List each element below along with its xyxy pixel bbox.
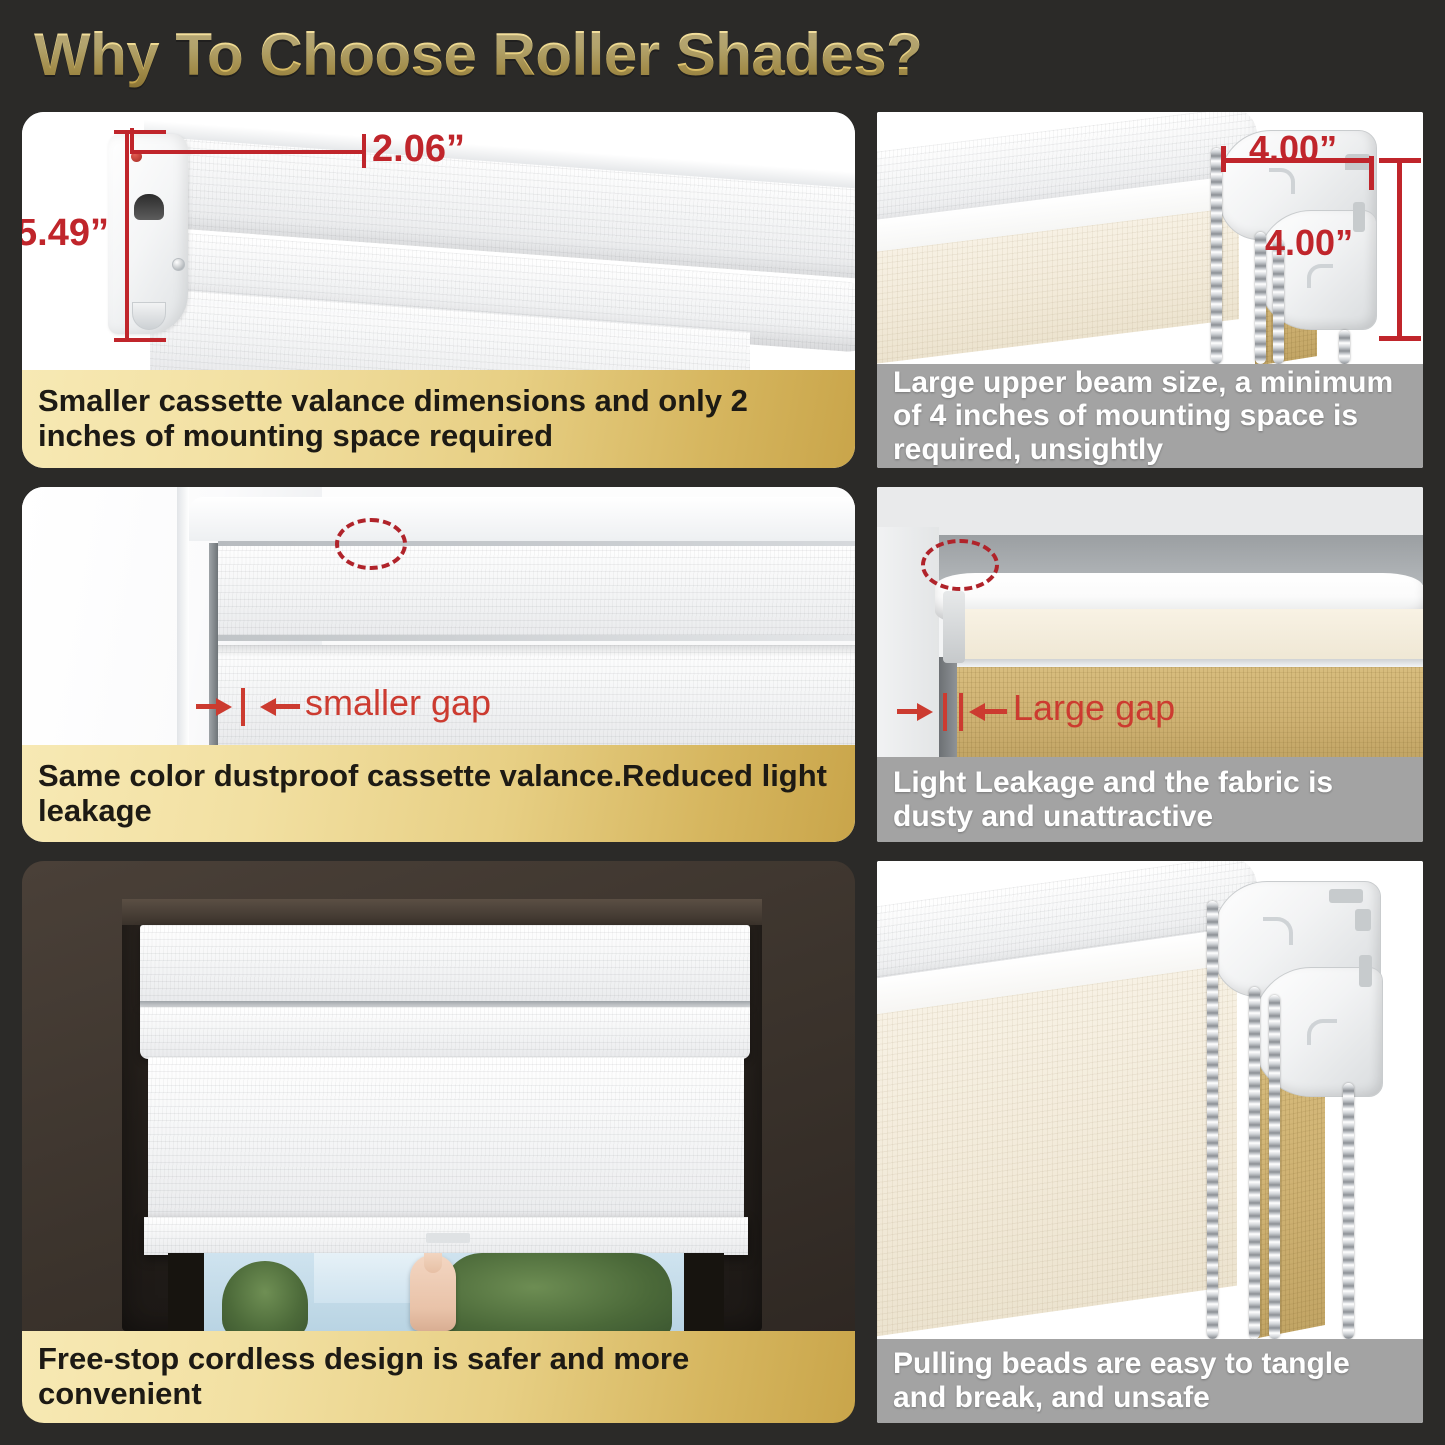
beam-height-tick-top: [1379, 158, 1421, 163]
window-mullion-left: [168, 1253, 204, 1331]
recess-top-reveal: [122, 899, 762, 925]
gap-callout-label: Large gap: [1013, 687, 1175, 729]
end-cap-clutch-hole: [134, 194, 164, 220]
beam-height-tick-bottom: [1379, 336, 1421, 341]
panel-3-caption-text: Same color dustproof cassette valance.Re…: [22, 759, 855, 828]
panel-1-caption: Smaller cassette valance dimensions and …: [22, 370, 855, 468]
panel-2-caption-text: Large upper beam size, a minimum of 4 in…: [877, 366, 1423, 467]
bottom-rail-tab: [426, 1233, 470, 1243]
panel-1: 2.06” 5.49” Smaller cassette valance dim…: [22, 112, 855, 468]
panel-4-caption-text: Light Leakage and the fabric is dusty an…: [877, 766, 1423, 833]
bead-chain-1: [1207, 901, 1218, 1339]
end-cap-screw-lower: [172, 258, 185, 271]
gap-measure-bar-b: [959, 693, 963, 731]
gap-arrow-right-head: [969, 703, 985, 721]
panel-5-photo: [22, 861, 855, 1331]
bracket-slot-mid: [1353, 202, 1365, 232]
gap-arrow-left-head: [216, 698, 232, 716]
valance-head-bottomline: [218, 635, 855, 641]
height-dim-tick-bottom: [114, 338, 166, 342]
bracket-icon-lower: [1307, 264, 1333, 288]
beam-height-label: 4.00”: [1265, 222, 1353, 264]
bracket-icon-upper: [1263, 917, 1293, 945]
panel-2-photo: 4.00” 4.00”: [877, 112, 1423, 364]
beam-height-dim-line: [1397, 158, 1402, 340]
headrail-lower-lip: [140, 1007, 750, 1059]
fabric-band-underline: [947, 659, 1423, 667]
bead-chain-4: [1343, 1083, 1354, 1339]
panel-1-photo: 2.06” 5.49”: [22, 112, 855, 370]
exposed-bracket: [943, 591, 965, 663]
beam-width-tick-left: [1221, 146, 1226, 172]
panel-5-caption-text: Free-stop cordless design is safer and m…: [22, 1342, 855, 1411]
fabric-cream-band: [947, 609, 1423, 661]
gap-measure-bar: [241, 688, 245, 726]
gap-arrow-left-stem: [196, 704, 218, 709]
bracket-icon-upper: [1269, 168, 1295, 194]
bead-chain-4: [1339, 330, 1350, 364]
highlight-circle-icon: [921, 539, 999, 591]
finger: [424, 1253, 442, 1273]
gap-arrow-left-stem: [897, 709, 919, 714]
gap-arrow-right-head: [260, 698, 276, 716]
gap-arrow-right-stem: [985, 709, 1007, 714]
valance-head: [218, 543, 855, 639]
tree-left: [222, 1261, 308, 1331]
window-casing-edge: [177, 487, 189, 745]
bracket-slot-upper-right: [1355, 909, 1371, 931]
window-mullion-right: [684, 1253, 724, 1331]
page-title: Why To Choose Roller Shades?: [0, 0, 1445, 108]
panel-6-photo: [877, 861, 1423, 1339]
gap-arrow-right-stem: [276, 704, 300, 709]
highlight-circle-icon: [335, 518, 407, 570]
bead-chain-3: [1269, 995, 1280, 1339]
window-glass: [202, 1253, 686, 1331]
bracket-slot-top: [1329, 889, 1363, 903]
panel-4-caption: Light Leakage and the fabric is dusty an…: [877, 757, 1423, 842]
panel-3: smaller gap Same color dustproof cassett…: [22, 487, 855, 842]
height-dim-tick-top: [114, 130, 166, 134]
panel-4-photo: Large gap: [877, 487, 1423, 757]
gap-callout-label: smaller gap: [305, 682, 491, 724]
beam-width-tick-right: [1369, 156, 1374, 190]
valance-head-topline: [218, 541, 855, 546]
beam-width-label: 4.00”: [1249, 128, 1337, 170]
gap-arrow-left-head: [917, 703, 933, 721]
panel-3-caption: Same color dustproof cassette valance.Re…: [22, 745, 855, 842]
panel-2: 4.00” 4.00” Large upper beam size, a min…: [877, 112, 1423, 468]
tree-right: [442, 1253, 672, 1331]
panel-1-caption-text: Smaller cassette valance dimensions and …: [22, 384, 855, 453]
bead-chain-2: [1249, 987, 1260, 1339]
panel-6-caption-text: Pulling beads are easy to tangle and bre…: [877, 1347, 1423, 1414]
page-title-text: Why To Choose Roller Shades?: [0, 20, 922, 89]
panel-5: Free-stop cordless design is safer and m…: [22, 861, 855, 1423]
width-dim-label: 2.06”: [372, 128, 465, 171]
panel-2-caption: Large upper beam size, a minimum of 4 in…: [877, 364, 1423, 468]
panel-3-photo: smaller gap: [22, 487, 855, 745]
gap-measure-bar-a: [943, 693, 947, 731]
shade-headrail: [140, 925, 750, 1005]
width-dim-line: [130, 150, 365, 154]
window-casing-inner-bevel: [189, 497, 855, 541]
bracket-slot-mid: [1359, 955, 1372, 987]
bead-chain-1: [1211, 148, 1222, 364]
panel-4: Large gap Light Leakage and the fabric i…: [877, 487, 1423, 842]
width-dim-tick-right: [362, 134, 366, 168]
wall-upper-band: [877, 487, 1423, 537]
panel-5-caption: Free-stop cordless design is safer and m…: [22, 1331, 855, 1423]
bracket-icon-lower: [1307, 1019, 1337, 1045]
panel-6: Pulling beads are easy to tangle and bre…: [877, 861, 1423, 1423]
panel-6-caption: Pulling beads are easy to tangle and bre…: [877, 1339, 1423, 1423]
shade-fabric: [148, 1057, 744, 1229]
height-dim-line: [125, 130, 129, 342]
shade-roll-shadow: [218, 645, 855, 657]
shade-drop-fabric: [877, 964, 1237, 1339]
height-dim-label: 5.49”: [22, 212, 109, 255]
large-light-gap: [939, 657, 957, 757]
